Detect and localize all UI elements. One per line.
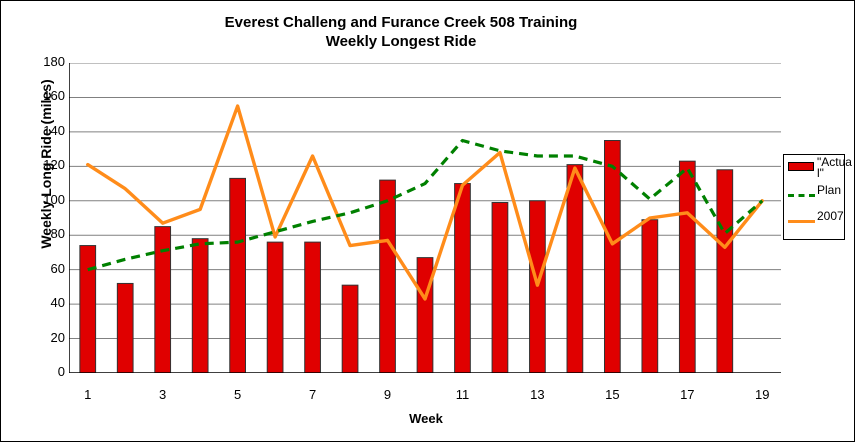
x-tick-19: 19 <box>742 387 782 402</box>
legend-label-plan: Plan <box>817 185 841 196</box>
legend-entry-actual[interactable]: "Actua l" <box>787 159 845 181</box>
x-tick-15: 15 <box>592 387 632 402</box>
legend-entry-plan[interactable]: Plan <box>787 187 845 209</box>
x-tick-7: 7 <box>293 387 333 402</box>
plot-area <box>69 63 781 373</box>
x-tick-11: 11 <box>442 387 482 402</box>
x-tick-17: 17 <box>667 387 707 402</box>
legend-swatch-plan-icon <box>788 194 815 197</box>
legend-label-2007: 2007 <box>817 211 844 222</box>
x-tick-1: 1 <box>68 387 108 402</box>
legend-entry-2007[interactable]: 2007 <box>787 213 845 235</box>
x-tick-13: 13 <box>517 387 557 402</box>
chart-legend: "Actua l" Plan 2007 <box>783 154 845 240</box>
legend-swatch-2007-icon <box>788 220 815 223</box>
x-tick-3: 3 <box>143 387 183 402</box>
chart-frame: Everest Challeng and Furance Creek 508 T… <box>0 0 855 442</box>
legend-swatch-actual-icon <box>788 162 814 171</box>
x-tick-5: 5 <box>218 387 258 402</box>
line-series-plan <box>88 141 763 270</box>
x-tick-9: 9 <box>368 387 408 402</box>
legend-label-actual: "Actua l" <box>817 157 852 179</box>
